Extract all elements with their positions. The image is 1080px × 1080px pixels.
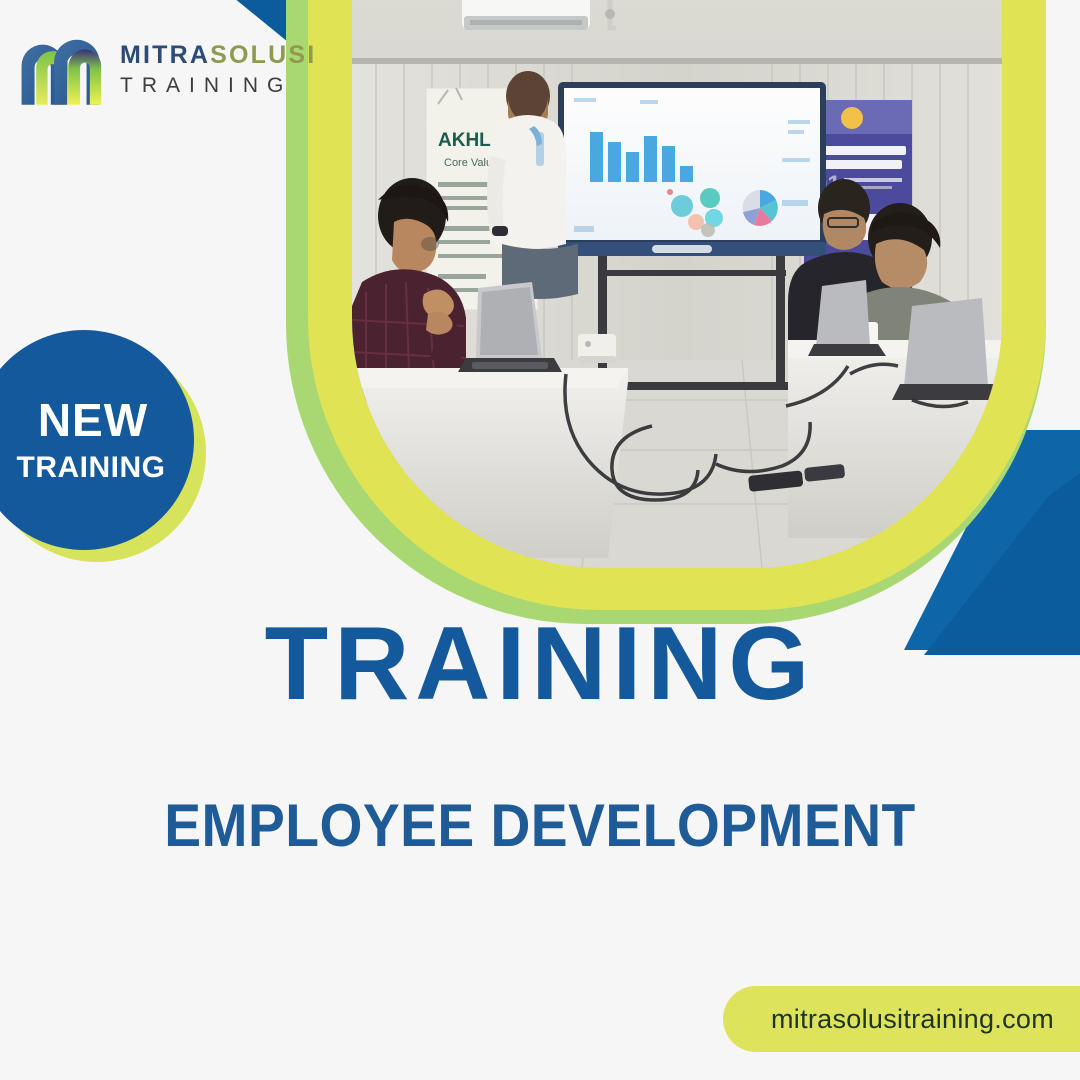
badge-line-new: NEW xyxy=(38,397,148,443)
logo-name-primary: MITRA xyxy=(120,41,210,69)
poster-canvas: AKHLAK Core Values xyxy=(0,0,1080,1080)
training-classroom-photo: AKHLAK Core Values xyxy=(352,0,1002,568)
photo-illustration: AKHLAK Core Values xyxy=(352,0,1002,568)
photo-frame: AKHLAK Core Values xyxy=(286,0,1046,624)
new-training-badge: NEW TRAINING xyxy=(0,330,210,566)
brand-logo[interactable]: MITRASOLUSI TRAINING xyxy=(18,30,316,108)
desk-device xyxy=(578,334,616,363)
badge-line-training: TRAINING xyxy=(17,453,166,483)
mitra-solusi-logo-icon xyxy=(18,30,108,108)
logo-wordmark: MITRASOLUSI TRAINING xyxy=(120,43,316,96)
logo-name-secondary: SOLUSI xyxy=(210,41,316,69)
dashboard-pie-chart xyxy=(743,190,778,226)
website-pill[interactable]: mitrasolusitraining.com xyxy=(723,986,1080,1052)
website-url: mitrasolusitraining.com xyxy=(771,1004,1054,1035)
logo-subtitle: TRAINING xyxy=(120,75,316,96)
page-subtitle: EMPLOYEE DEVELOPMENT xyxy=(43,796,1037,856)
page-title: TRAINING xyxy=(0,612,1080,716)
air-conditioner-icon xyxy=(462,0,590,30)
